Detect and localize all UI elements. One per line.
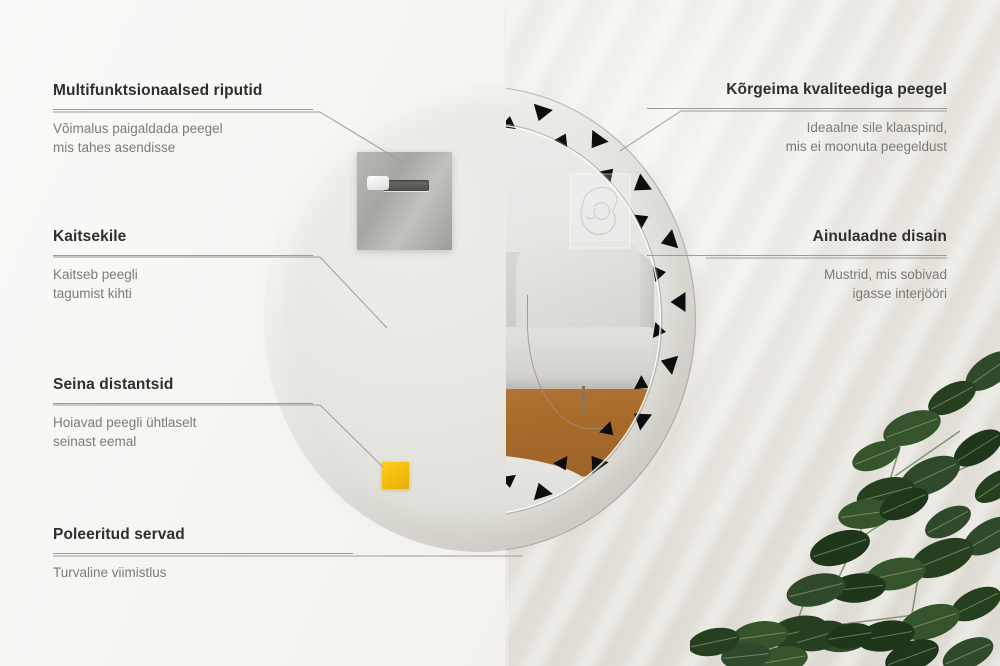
callout-rule: [53, 553, 353, 554]
callout-title: Poleeritud servad: [53, 526, 353, 544]
mirror-product: [264, 76, 712, 576]
mirror-hanger-plate: [357, 152, 452, 250]
callout-ainulaadne-disain: Ainulaadne disain Mustrid, mis sobivad i…: [647, 228, 947, 303]
callout-title: Seina distantsid: [53, 376, 313, 394]
callout-rule: [53, 109, 313, 110]
foliage-decoration: [690, 336, 1000, 666]
callout-description: Ideaalne sile klaaspind, mis ei moonuta …: [647, 118, 947, 156]
callout-rule: [53, 403, 313, 404]
callout-description: Turvaline viimistlus: [53, 563, 353, 582]
infographic-stage: Multifunktsionaalsed riputid Võimalus pa…: [0, 0, 1000, 666]
callout-korgeima-kvaliteediga-peegel: Kõrgeima kvaliteediga peegel Ideaalne si…: [647, 81, 947, 156]
callout-description: Võimalus paigaldada peegel mis tahes ase…: [53, 119, 313, 157]
callout-rule: [53, 255, 313, 256]
callout-seina-distantsid: Seina distantsid Hoiavad peegli ühtlasel…: [53, 376, 313, 451]
callout-description: Hoiavad peegli ühtlaselt seinast eemal: [53, 413, 313, 451]
wall-spacer-block: [382, 462, 409, 489]
leaf: [938, 630, 999, 666]
callout-title: Kaitsekile: [53, 228, 313, 246]
callout-rule: [647, 255, 947, 256]
callout-kaitsekile: Kaitsekile Kaitseb peegli tagumist kihti: [53, 228, 313, 303]
callout-title: Multifunktsionaalsed riputid: [53, 82, 313, 100]
callout-title: Ainulaadne disain: [647, 228, 947, 246]
callout-title: Kõrgeima kvaliteediga peegel: [647, 81, 947, 99]
callout-poleeritud-servad: Poleeritud servad Turvaline viimistlus: [53, 526, 353, 582]
callout-rule: [647, 108, 947, 109]
callout-multifunktsionaalsed-riputid: Multifunktsionaalsed riputid Võimalus pa…: [53, 82, 313, 157]
glass-logo-watermark: [569, 173, 631, 249]
callout-description: Mustrid, mis sobivad igasse interjööri: [647, 265, 947, 303]
hanger-slot-icon: [383, 180, 429, 191]
callout-description: Kaitseb peegli tagumist kihti: [53, 265, 313, 303]
